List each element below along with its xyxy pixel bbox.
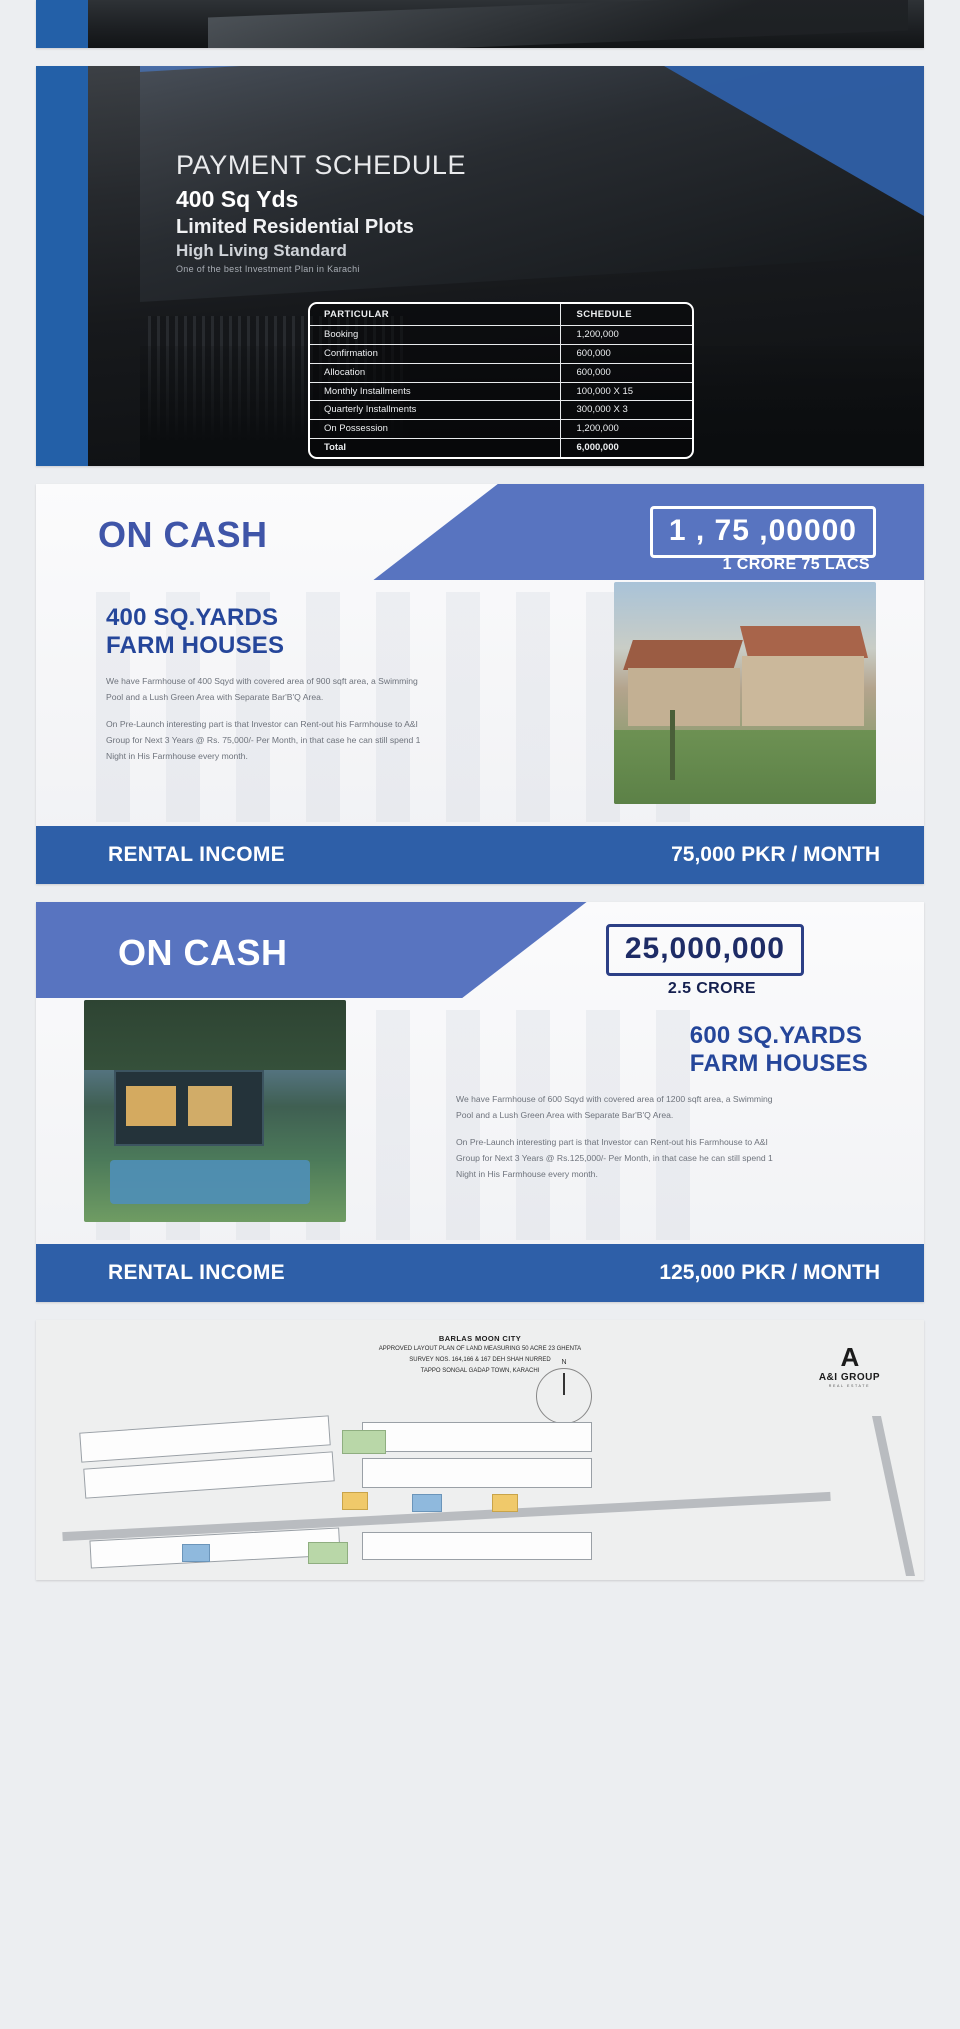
offer-headline: 400 SQ.YARDS FARM HOUSES [106, 604, 284, 661]
roof-right [740, 626, 868, 658]
building-photo [88, 0, 924, 48]
payment-schedule-card[interactable]: PAYMENT SCHEDULE 400 Sq Yds Limited Resi… [36, 66, 924, 466]
cell-particular: Monthly Installments [310, 382, 560, 401]
payment-schedule-table: PARTICULAR SCHEDULE Booking1,200,000Conf… [310, 304, 692, 457]
roof-left [623, 640, 743, 670]
logo-tagline: REAL ESTATE [819, 1384, 880, 1388]
offer-headline: 600 SQ.YARDS FARM HOUSES [690, 1022, 868, 1079]
description-paragraph-1: We have Farmhouse of 600 Sqyd with cover… [456, 1092, 774, 1124]
plot-band [362, 1458, 592, 1488]
palm-tree [670, 710, 675, 780]
on-cash-label: ON CASH [98, 514, 268, 556]
cell-schedule: 600,000 [560, 363, 692, 382]
column-header-particular: PARTICULAR [310, 304, 560, 325]
description-paragraph-2: On Pre-Launch interesting part is that I… [456, 1135, 774, 1183]
on-cash-card-400[interactable]: ON CASH 1 , 75 ,00000 1 CRORE 75 LACS 40… [36, 484, 924, 884]
investment-tagline: One of the best Investment Plan in Karac… [176, 264, 466, 274]
lawn [614, 730, 876, 804]
wall-right [742, 656, 864, 726]
site-plan-subtitle-3: TAPPO SONGAL GADAP TOWN, KARACHI [36, 1367, 924, 1376]
cell-schedule: 1,200,000 [560, 420, 692, 439]
site-plan-card[interactable]: BARLAS MOON CITY APPROVED LAYOUT PLAN OF… [36, 1320, 924, 1580]
payment-schedule-eyebrow: PAYMENT SCHEDULE [176, 150, 466, 181]
price-in-words: 2.5 CRORE [668, 980, 756, 998]
cell-schedule: 600,000 [560, 344, 692, 363]
left-blue-bar [36, 0, 88, 48]
living-standard: High Living Standard [176, 241, 466, 261]
left-blue-bar [36, 66, 88, 466]
offer-description: We have Farmhouse of 600 Sqyd with cover… [456, 1092, 774, 1182]
site-plan-title-block: BARLAS MOON CITY APPROVED LAYOUT PLAN OF… [36, 1334, 924, 1376]
farm-house-photo [84, 1000, 346, 1222]
rental-income-label: RENTAL INCOME [108, 843, 285, 867]
cell-schedule: 6,000,000 [560, 439, 692, 457]
payment-schedule-table-body: Booking1,200,000Confirmation600,000Alloc… [310, 325, 692, 457]
table-row: Booking1,200,000 [310, 325, 692, 344]
on-cash-card-600[interactable]: ON CASH 25,000,000 2.5 CRORE 600 SQ.YARD… [36, 902, 924, 1302]
headline-line-2: FARM HOUSES [690, 1050, 868, 1078]
company-logo: A A&I GROUP REAL ESTATE [819, 1346, 880, 1388]
cell-particular: On Possession [310, 420, 560, 439]
headline-line-2: FARM HOUSES [106, 632, 284, 660]
amenity-block [182, 1544, 210, 1562]
cell-particular: Confirmation [310, 344, 560, 363]
cell-schedule: 100,000 X 15 [560, 382, 692, 401]
price-in-words: 1 CRORE 75 LACS [723, 556, 870, 574]
previous-post-sliver[interactable] [36, 0, 924, 48]
commercial-block [342, 1492, 368, 1510]
site-plan-subtitle-1: APPROVED LAYOUT PLAN OF LAND MEASURING 5… [36, 1345, 924, 1354]
table-row: Total6,000,000 [310, 439, 692, 457]
description-paragraph-1: We have Farmhouse of 400 Sqyd with cover… [106, 674, 424, 706]
plot-band [362, 1422, 592, 1452]
offer-description: We have Farmhouse of 400 Sqyd with cover… [106, 674, 424, 764]
tree-line [84, 1000, 346, 1070]
payment-schedule-heading-group: PAYMENT SCHEDULE 400 Sq Yds Limited Resi… [176, 150, 466, 274]
headline-line-1: 400 SQ.YARDS [106, 604, 284, 632]
rental-income-bar: RENTAL INCOME 125,000 PKR / MONTH [36, 1244, 924, 1302]
site-plan-title: BARLAS MOON CITY [36, 1334, 924, 1343]
headline-line-1: 600 SQ.YARDS [690, 1022, 868, 1050]
table-row: Allocation600,000 [310, 363, 692, 382]
table-row: On Possession1,200,000 [310, 420, 692, 439]
park-area [342, 1430, 386, 1454]
site-plan-subtitle-2: SURVEY NOS. 164,166 & 167 DEH SHAH NURRE… [36, 1356, 924, 1365]
plot-size: 400 Sq Yds [176, 186, 466, 213]
scrolling-feed[interactable]: PAYMENT SCHEDULE 400 Sq Yds Limited Resi… [0, 0, 960, 1580]
rental-income-value: 125,000 PKR / MONTH [659, 1261, 880, 1285]
cell-particular: Booking [310, 325, 560, 344]
logo-company-name: A&I GROUP [819, 1372, 880, 1383]
table-row: Monthly Installments100,000 X 15 [310, 382, 692, 401]
price-box: 1 , 75 ,00000 [650, 506, 876, 558]
commercial-block [492, 1494, 518, 1512]
rental-income-bar: RENTAL INCOME 75,000 PKR / MONTH [36, 826, 924, 884]
table-row: Quarterly Installments300,000 X 3 [310, 401, 692, 420]
plot-type: Limited Residential Plots [176, 216, 466, 239]
cell-schedule: 300,000 X 3 [560, 401, 692, 420]
logo-mark-icon: A [819, 1346, 880, 1369]
site-plan-map [62, 1416, 898, 1580]
cell-particular: Quarterly Installments [310, 401, 560, 420]
farm-house-photo [614, 582, 876, 804]
plot-band [362, 1532, 592, 1560]
table-row: Confirmation600,000 [310, 344, 692, 363]
table-header-row: PARTICULAR SCHEDULE [310, 304, 692, 325]
swimming-pool [110, 1160, 310, 1204]
amenity-block [412, 1494, 442, 1512]
column-header-schedule: SCHEDULE [560, 304, 692, 325]
rental-income-value: 75,000 PKR / MONTH [671, 843, 880, 867]
cell-particular: Total [310, 439, 560, 457]
price-box: 25,000,000 [606, 924, 804, 976]
roofline-shape [208, 0, 908, 48]
cell-schedule: 1,200,000 [560, 325, 692, 344]
on-cash-label: ON CASH [118, 932, 288, 974]
park-area [308, 1542, 348, 1564]
lit-window-2 [188, 1086, 232, 1126]
cell-particular: Allocation [310, 363, 560, 382]
wall-left [628, 668, 740, 726]
lit-window-1 [126, 1086, 176, 1126]
payment-schedule-table-wrapper: PARTICULAR SCHEDULE Booking1,200,000Conf… [308, 302, 694, 459]
rental-income-label: RENTAL INCOME [108, 1261, 285, 1285]
description-paragraph-2: On Pre-Launch interesting part is that I… [106, 717, 424, 765]
